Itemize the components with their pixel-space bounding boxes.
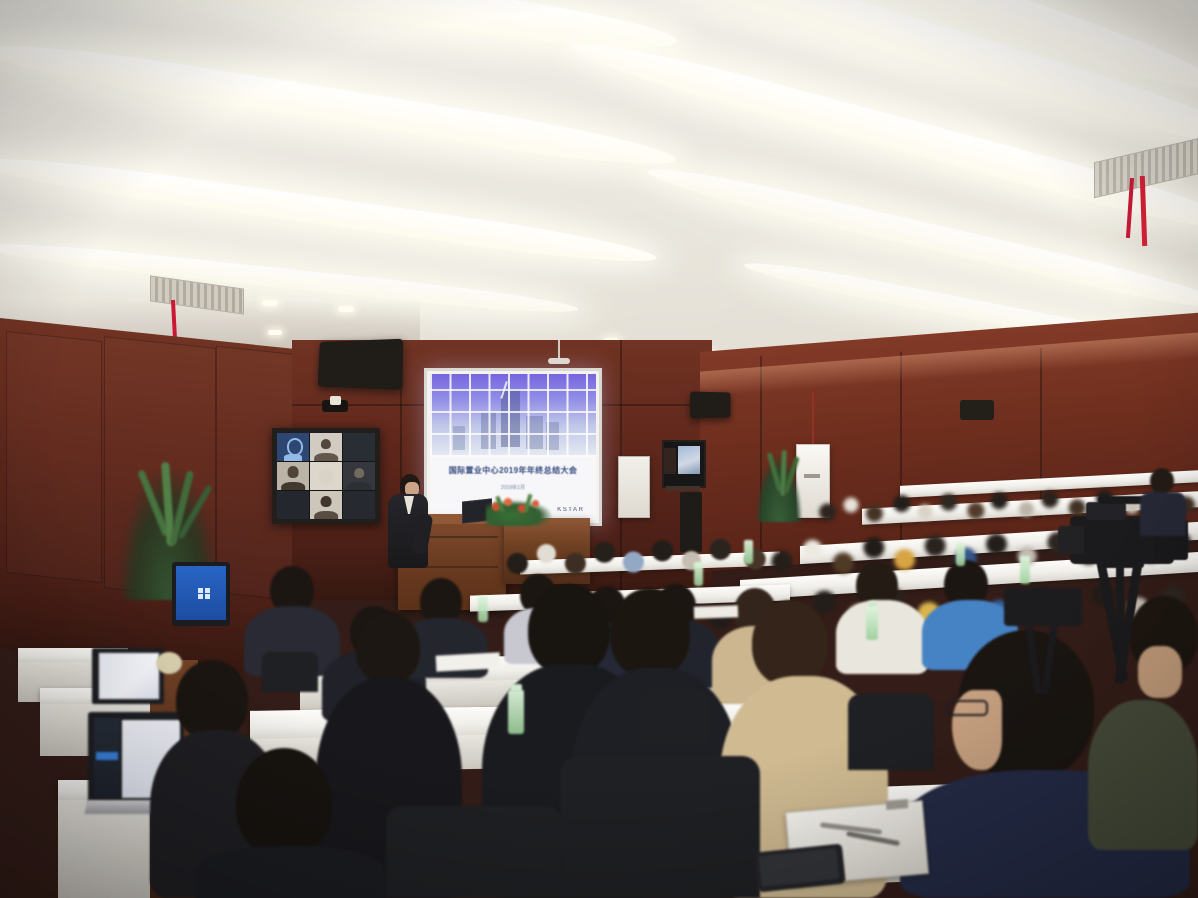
- slide-title: 国际置业中心2019年年终总结大会: [437, 465, 590, 476]
- audience-head: [752, 600, 828, 686]
- ceiling-speaker: [960, 400, 994, 420]
- video-conference-monitor[interactable]: [272, 428, 380, 524]
- hair-clip: [156, 652, 182, 674]
- wall-mounted-tv-screen: [664, 448, 676, 474]
- black-conference-chair[interactable]: [640, 690, 710, 742]
- ceiling-speaker: [690, 392, 730, 419]
- conference-room-photo: 国际置业中心2019年年终总结大会 2019年1月 KSTAR: [0, 0, 1198, 898]
- vc-tile[interactable]: [343, 433, 375, 461]
- vc-tile[interactable]: [343, 491, 375, 519]
- audience-head: [528, 584, 610, 676]
- camera-tripod-head: [1102, 556, 1144, 568]
- vc-tile[interactable]: [277, 491, 309, 519]
- vc-tile[interactable]: [310, 433, 342, 461]
- standing-attendee-body: [1140, 492, 1186, 536]
- audience-head: [356, 612, 420, 684]
- water-bottle[interactable]: [956, 542, 965, 566]
- camera-tripod: [1116, 562, 1124, 672]
- audience-head: [610, 588, 690, 678]
- recessed-downlight: [338, 306, 354, 312]
- windows-logo-icon: [198, 588, 210, 599]
- wall-whiteboard: [618, 456, 650, 518]
- water-bottle[interactable]: [1020, 556, 1030, 584]
- vc-tile[interactable]: [310, 491, 342, 519]
- flower: [532, 500, 539, 507]
- presenter-at-podium: [386, 474, 430, 604]
- recessed-downlight: [268, 330, 282, 335]
- laptop-sidebar-highlight: [96, 752, 118, 760]
- slide-grid-overlay: [430, 374, 596, 457]
- wall-camera: [330, 396, 341, 405]
- audience-head: [176, 660, 248, 740]
- paper-handout: [694, 605, 738, 619]
- bottle-cap: [510, 684, 522, 692]
- attendee-laptop-screen: [98, 652, 160, 700]
- slide-logo: KSTAR: [557, 507, 584, 513]
- vc-tile[interactable]: [343, 462, 375, 490]
- tv-stand: [666, 486, 700, 491]
- water-bottle[interactable]: [478, 596, 488, 622]
- water-bottle[interactable]: [744, 540, 753, 564]
- projector-mount: [548, 358, 570, 364]
- slide-subtitle: 2019年1月: [437, 484, 590, 491]
- vc-tile[interactable]: [277, 433, 309, 461]
- water-bottle[interactable]: [694, 562, 703, 586]
- black-conference-chair[interactable]: [848, 694, 934, 770]
- wall-mounted-tv-screen: [678, 446, 700, 474]
- presentation-slide: 国际置业中心2019年年终总结大会 2019年1月 KSTAR: [430, 374, 596, 520]
- camera-viewfinder: [1086, 502, 1126, 520]
- black-conference-chair[interactable]: [386, 806, 562, 898]
- water-bottle[interactable]: [508, 690, 524, 734]
- water-bottle[interactable]: [866, 606, 878, 640]
- recessed-downlight: [262, 300, 278, 306]
- vc-tile[interactable]: [310, 462, 342, 490]
- cabinet-drop-cable: [812, 392, 814, 444]
- vc-tile[interactable]: [277, 462, 309, 490]
- broadcast-video-camera: [1004, 588, 1082, 626]
- audience-torso: [196, 846, 386, 898]
- black-conference-chair[interactable]: [560, 756, 760, 898]
- ceiling-speaker: [318, 339, 404, 390]
- camera-lens: [1058, 526, 1084, 554]
- clipboard-clip: [886, 799, 909, 810]
- black-conference-chair[interactable]: [262, 652, 318, 692]
- audience-head: [236, 748, 332, 858]
- wood-panel: [6, 331, 102, 583]
- audience-torso: [836, 600, 928, 674]
- eyeglasses-icon: [946, 700, 988, 716]
- flower: [504, 498, 512, 506]
- audience-torso: [1088, 700, 1198, 850]
- paper-handout: [436, 652, 501, 671]
- bottle-cap: [868, 601, 877, 607]
- slide-hero-image: [430, 374, 596, 457]
- standing-attendee: [1150, 468, 1174, 494]
